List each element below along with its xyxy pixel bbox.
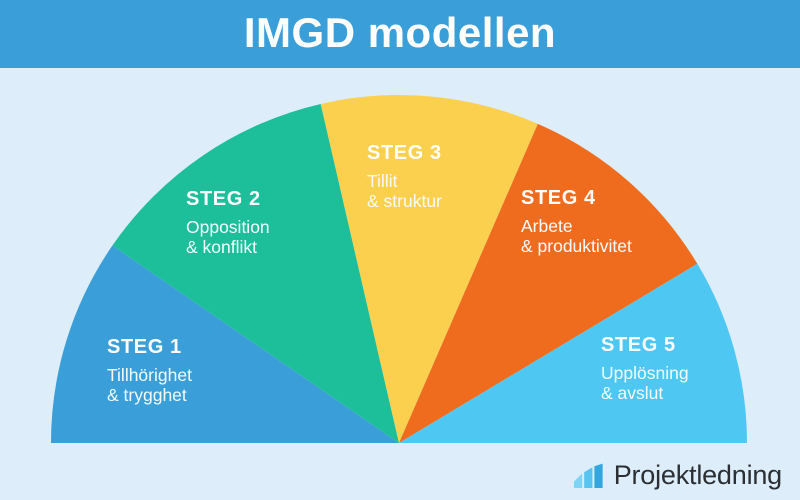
imgd-fan-diagram: STEG 1 Tillhörighet & trygghet STEG 2 Op…	[0, 68, 800, 500]
brand-name: Projektledning	[614, 462, 782, 489]
fan-svg	[0, 68, 800, 500]
brand-logo[interactable]: Projektledning	[573, 462, 782, 489]
bar-chart-icon	[573, 463, 607, 489]
header-band: IMGD modellen	[0, 0, 800, 68]
page-title: IMGD modellen	[244, 12, 556, 57]
infographic-canvas: IMGD modellen STEG 1 Tillhörighet & tryg…	[0, 0, 800, 500]
